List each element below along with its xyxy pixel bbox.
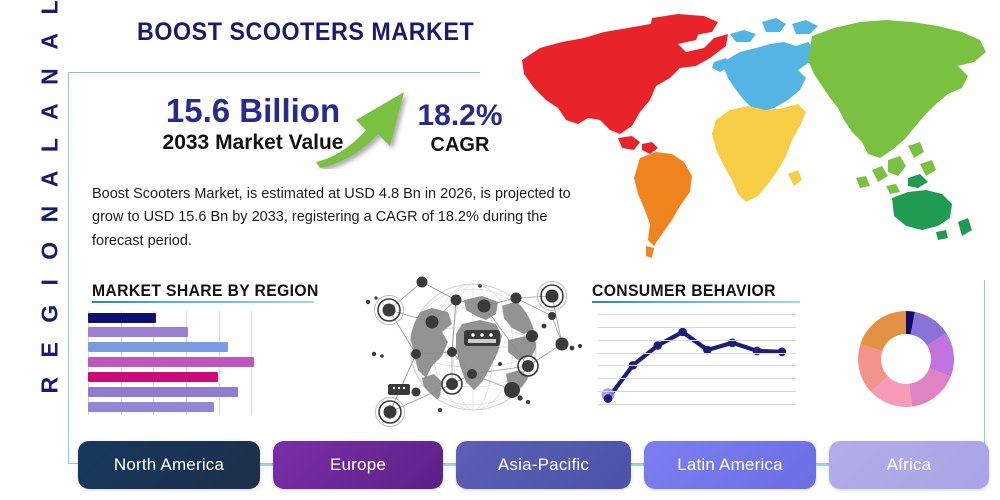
region-pill-label: Latin America: [677, 455, 783, 475]
region-pill-asia-pacific[interactable]: Asia-Pacific: [456, 441, 631, 489]
consumer-behavior-line-chart: [598, 306, 796, 416]
pill-connector: [443, 464, 456, 466]
region-pill-label: Asia-Pacific: [498, 455, 589, 475]
region-pill-label: North America: [114, 455, 224, 475]
bar-chart-bar: [88, 372, 218, 382]
pill-connector: [260, 464, 273, 466]
bar-chart-bar: [88, 402, 214, 412]
region-pill-north-america[interactable]: North America: [78, 441, 260, 489]
section-rule-consumer-behavior: [592, 301, 800, 303]
region-pill-europe[interactable]: Europe: [273, 441, 443, 489]
region-pill-label: Africa: [887, 455, 932, 475]
section-title-market-share: MARKET SHARE BY REGION: [92, 282, 319, 301]
page-title: BOOST SCOOTERS MARKET: [137, 18, 474, 47]
bar-chart-bar: [88, 342, 228, 352]
bar-chart-bar: [88, 313, 156, 323]
line-chart-gridlines: [598, 306, 796, 416]
bar-chart-bar: [88, 327, 188, 337]
section-title-consumer-behavior: CONSUMER BEHAVIOR: [592, 282, 776, 301]
pill-connector: [816, 464, 829, 466]
consumer-behavior-donut-chart: [855, 308, 957, 410]
region-pill-latin-america[interactable]: Latin America: [644, 441, 816, 489]
pill-connector: [631, 464, 644, 466]
region-pill-label: Europe: [330, 455, 386, 475]
section-rule-market-share: [92, 301, 314, 303]
region-pill-africa[interactable]: Africa: [829, 441, 989, 489]
region-pill-row: North AmericaEuropeAsia-PacificLatin Ame…: [78, 441, 993, 489]
global-network-globe-icon: [356, 266, 590, 428]
donut-segment: [860, 311, 906, 351]
infographic-canvas: R E G I O N A L A N A L Y S I S BOOST SC…: [0, 0, 1000, 500]
world-map-icon: [500, 8, 1000, 263]
page-side-title: R E G I O N A L A N A L Y S I S: [37, 0, 64, 394]
bar-chart-bar: [88, 387, 238, 397]
market-share-bar-chart: [88, 311, 284, 415]
bar-chart-bar: [88, 357, 254, 367]
